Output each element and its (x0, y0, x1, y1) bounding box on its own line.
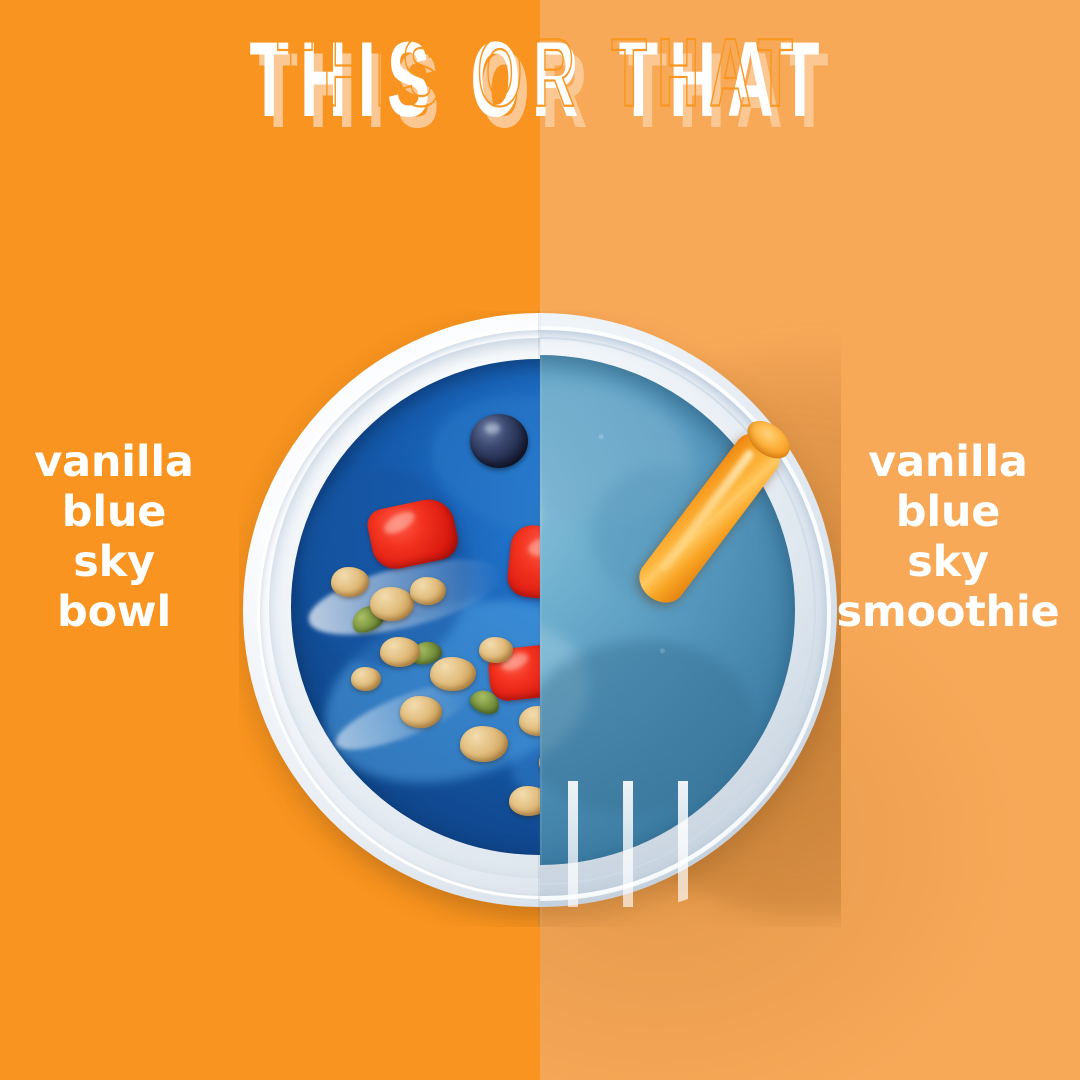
product-label-left: vanilla blue sky bowl (0, 437, 228, 637)
granola-cluster (430, 657, 476, 691)
label-left-line-2: blue (0, 487, 228, 537)
blueberry (470, 414, 528, 468)
poster-canvas: THIS OR THAT THIS OR THAT THIS OR THAT (0, 0, 1080, 1080)
split-product-photo (239, 311, 841, 927)
granola-cluster (351, 667, 381, 691)
cup-flute (623, 781, 633, 907)
product-photo-smoothie-half (540, 311, 841, 927)
label-right-line-3: sky (833, 537, 1063, 587)
label-right-line-2: blue (833, 487, 1063, 537)
granola-cluster (380, 637, 420, 667)
label-left-line-1: vanilla (0, 437, 228, 487)
label-right-line-4: smoothie (833, 587, 1063, 637)
cup-flute (678, 781, 688, 907)
strawberry-piece (506, 523, 540, 605)
label-left-line-4: bowl (0, 587, 228, 637)
label-right-line-1: vanilla (833, 437, 1063, 487)
product-photo-bowl-half (239, 311, 540, 927)
label-left-line-3: sky (0, 537, 228, 587)
cup-flute (568, 781, 578, 907)
headline: THIS OR THAT THIS OR THAT THIS OR THAT (0, 30, 1080, 140)
granola-cluster (509, 786, 540, 816)
granola-cluster (460, 726, 508, 762)
photo-split-seam (538, 311, 542, 927)
product-label-right: vanilla blue sky smoothie (833, 437, 1063, 637)
granola-cluster (331, 567, 369, 597)
headline-inline-stroke: THIS OR THAT (277, 28, 803, 118)
headline-wrap: THIS OR THAT THIS OR THAT THIS OR THAT (125, 30, 955, 116)
